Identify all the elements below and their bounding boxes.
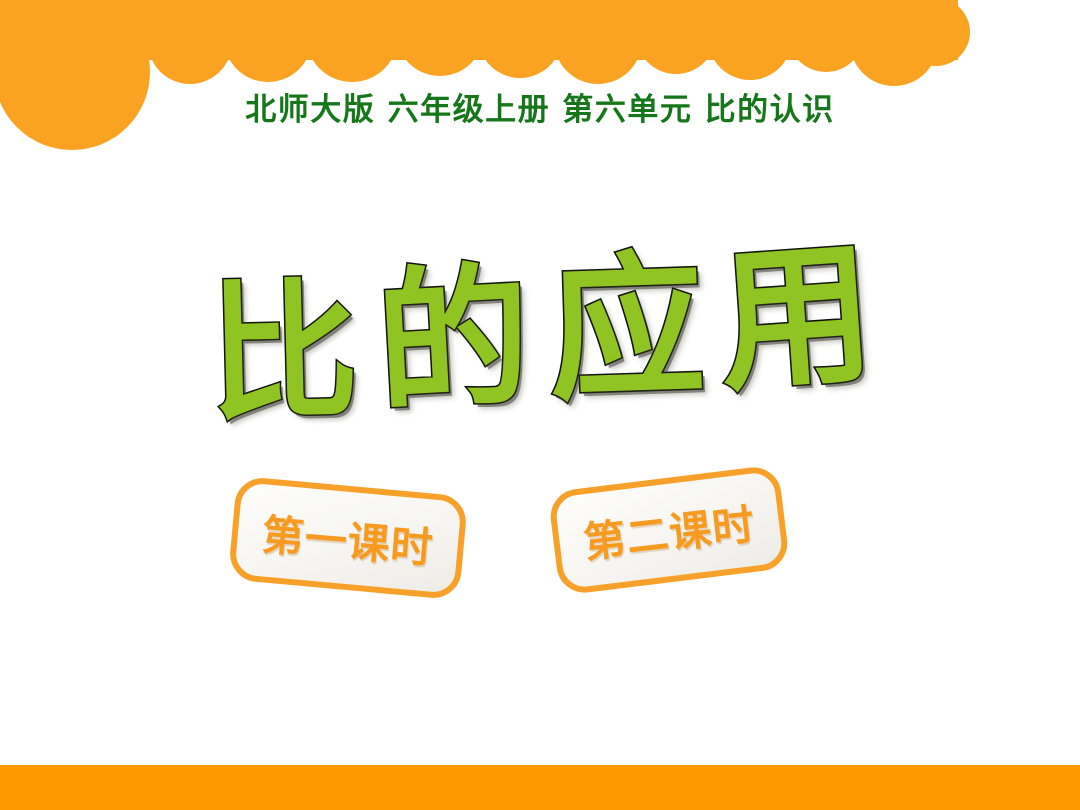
lesson-1-button[interactable]: 第一课时 bbox=[228, 476, 468, 601]
title-char-2: 的 bbox=[372, 247, 535, 436]
title-char-1: 比 bbox=[206, 264, 360, 445]
title-char-3: 应 bbox=[546, 236, 708, 425]
header-line: 北师大版 六年级上册 第六单元 比的认识 bbox=[0, 84, 1080, 129]
lesson-2-button[interactable]: 第二课时 bbox=[548, 464, 791, 595]
bottom-bar-decoration bbox=[0, 765, 1080, 810]
title-char-4: 用 bbox=[713, 223, 880, 416]
lesson-1-button-label: 第一课时 bbox=[260, 501, 436, 576]
page-subtitle: 北师大版 六年级上册 第六单元 比的认识 bbox=[245, 84, 834, 129]
main-title-area: 比 的 应 用 bbox=[0, 248, 1080, 463]
slide-canvas: 北师大版 六年级上册 第六单元 比的认识 比 的 应 用 第一课时 第二课时 bbox=[0, 0, 1080, 810]
page-title: 比 的 应 用 bbox=[203, 233, 876, 440]
lesson-2-button-label: 第二课时 bbox=[580, 490, 758, 570]
